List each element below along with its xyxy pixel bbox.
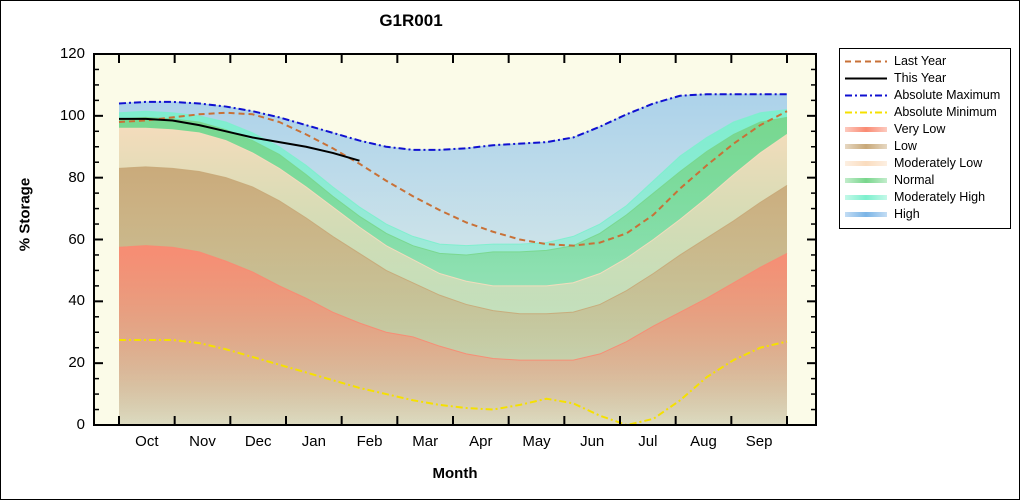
legend-item-label: Last Year xyxy=(894,55,946,68)
legend-item-label: This Year xyxy=(894,72,946,85)
legend-band-swatch xyxy=(845,127,887,132)
legend-swatch-icon xyxy=(845,72,887,85)
legend: Last YearThis YearAbsolute MaximumAbsolu… xyxy=(839,48,1011,229)
x-tick-label-jun: Jun xyxy=(562,433,622,450)
legend-swatch-icon xyxy=(845,191,887,204)
x-tick-label-apr: Apr xyxy=(451,433,511,450)
legend-item-absolute-maximum[interactable]: Absolute Maximum xyxy=(845,87,1005,104)
x-tick-label-mar: Mar xyxy=(395,433,455,450)
x-tick-label-feb: Feb xyxy=(340,433,400,450)
y-tick-label: 60 xyxy=(33,231,85,248)
legend-item-label: Very Low xyxy=(894,123,945,136)
legend-swatch-icon xyxy=(845,157,887,170)
x-tick-label-sep: Sep xyxy=(729,433,789,450)
legend-item-high[interactable]: High xyxy=(845,206,1005,223)
y-tick-label: 20 xyxy=(33,354,85,371)
legend-swatch-icon xyxy=(845,89,887,102)
legend-item-moderately-high[interactable]: Moderately High xyxy=(845,189,1005,206)
x-tick-label-dec: Dec xyxy=(228,433,288,450)
legend-item-label: Moderately Low xyxy=(894,157,982,170)
x-tick-label-may: May xyxy=(507,433,567,450)
legend-swatch-icon xyxy=(845,140,887,153)
legend-item-label: Absolute Maximum xyxy=(894,89,1000,102)
y-tick-label: 40 xyxy=(33,292,85,309)
legend-item-very-low[interactable]: Very Low xyxy=(845,121,1005,138)
legend-item-label: High xyxy=(894,208,920,221)
legend-item-label: Low xyxy=(894,140,917,153)
legend-swatch-icon xyxy=(845,208,887,221)
y-tick-label: 120 xyxy=(33,45,85,62)
x-tick-label-oct: Oct xyxy=(117,433,177,450)
x-tick-label-nov: Nov xyxy=(173,433,233,450)
legend-band-swatch xyxy=(845,178,887,183)
chart-container: G1R001 % Storage Month 020406080100120 O… xyxy=(0,0,1020,500)
legend-item-label: Normal xyxy=(894,174,934,187)
legend-item-absolute-minimum[interactable]: Absolute Minimum xyxy=(845,104,1005,121)
legend-swatch-icon xyxy=(845,106,887,119)
legend-item-label: Absolute Minimum xyxy=(894,106,997,119)
legend-item-low[interactable]: Low xyxy=(845,138,1005,155)
y-tick-label: 80 xyxy=(33,169,85,186)
legend-swatch-icon xyxy=(845,174,887,187)
legend-swatch-icon xyxy=(845,55,887,68)
legend-item-label: Moderately High xyxy=(894,191,985,204)
x-tick-label-aug: Aug xyxy=(674,433,734,450)
legend-item-this-year[interactable]: This Year xyxy=(845,70,1005,87)
legend-item-last-year[interactable]: Last Year xyxy=(845,53,1005,70)
legend-item-moderately-low[interactable]: Moderately Low xyxy=(845,155,1005,172)
legend-band-swatch xyxy=(845,195,887,200)
x-tick-label-jan: Jan xyxy=(284,433,344,450)
y-tick-label: 100 xyxy=(33,107,85,124)
legend-band-swatch xyxy=(845,144,887,149)
legend-item-normal[interactable]: Normal xyxy=(845,172,1005,189)
legend-band-swatch xyxy=(845,161,887,166)
legend-swatch-icon xyxy=(845,123,887,136)
y-tick-label: 0 xyxy=(33,416,85,433)
legend-band-swatch xyxy=(845,212,887,217)
x-tick-label-jul: Jul xyxy=(618,433,678,450)
